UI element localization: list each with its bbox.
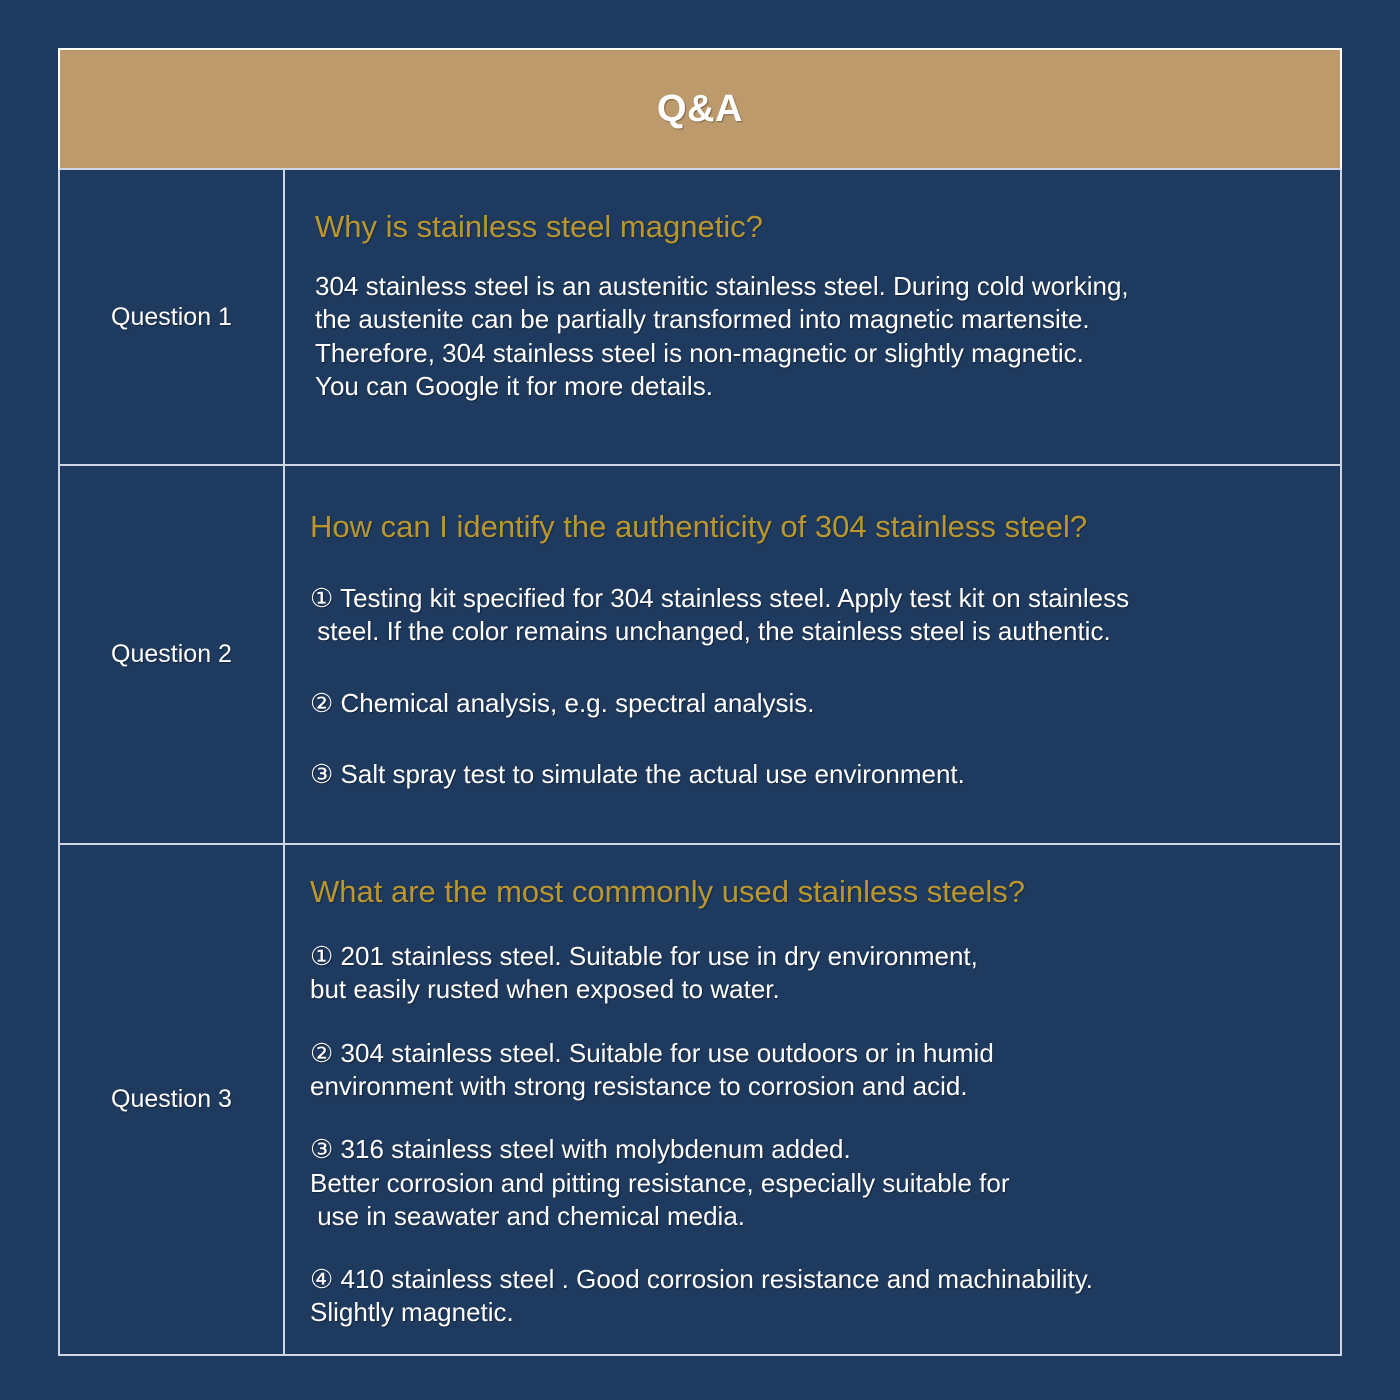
question-content-cell-1: Why is stainless steel magnetic? 304 sta… bbox=[285, 170, 1340, 464]
answer-line: Slightly magnetic. bbox=[310, 1296, 1320, 1329]
question-heading-1: Why is stainless steel magnetic? bbox=[315, 208, 1320, 245]
answer-line: steel. If the color remains unchanged, t… bbox=[310, 615, 1320, 648]
question-label-3: Question 3 bbox=[111, 1085, 232, 1114]
answer-line: Therefore, 304 stainless steel is non-ma… bbox=[315, 337, 1320, 370]
table-row: Question 2 How can I identify the authen… bbox=[60, 466, 1340, 845]
answer-line: Better corrosion and pitting resistance,… bbox=[310, 1167, 1320, 1200]
table-row: Question 3 What are the most commonly us… bbox=[60, 845, 1340, 1354]
answer-item: ② 304 stainless steel. Suitable for use … bbox=[310, 1037, 1320, 1104]
question-heading-2: How can I identify the authenticity of 3… bbox=[310, 508, 1320, 545]
answer-line: ③ Salt spray test to simulate the actual… bbox=[310, 758, 1320, 791]
question-label-cell-1: Question 1 bbox=[60, 170, 285, 464]
answer-line: ② Chemical analysis, e.g. spectral analy… bbox=[310, 687, 1320, 720]
question-label-2: Question 2 bbox=[111, 640, 232, 669]
answer-line: environment with strong resistance to co… bbox=[310, 1070, 1320, 1103]
table-row: Question 1 Why is stainless steel magnet… bbox=[60, 170, 1340, 466]
page-title: Q&A bbox=[657, 88, 743, 131]
answer-line: ② 304 stainless steel. Suitable for use … bbox=[310, 1037, 1320, 1070]
answer-item: ③ 316 stainless steel with molybdenum ad… bbox=[310, 1133, 1320, 1233]
qa-table-body: Question 1 Why is stainless steel magnet… bbox=[58, 170, 1342, 1356]
question-label-cell-2: Question 2 bbox=[60, 466, 285, 843]
answer-line: but easily rusted when exposed to water. bbox=[310, 973, 1320, 1006]
question-heading-3: What are the most commonly used stainles… bbox=[310, 873, 1320, 910]
answer-line: ① 201 stainless steel. Suitable for use … bbox=[310, 940, 1320, 973]
answer-line: use in seawater and chemical media. bbox=[310, 1200, 1320, 1233]
question-label-cell-3: Question 3 bbox=[60, 845, 285, 1354]
answer-item: ① 201 stainless steel. Suitable for use … bbox=[310, 940, 1320, 1007]
answer-line: ③ 316 stainless steel with molybdenum ad… bbox=[310, 1133, 1320, 1166]
question-content-cell-2: How can I identify the authenticity of 3… bbox=[285, 466, 1340, 843]
qa-header-band: Q&A bbox=[58, 48, 1342, 170]
question-content-cell-3: What are the most commonly used stainles… bbox=[285, 845, 1340, 1354]
answer-line: You can Google it for more details. bbox=[315, 370, 1320, 403]
question-label-1: Question 1 bbox=[111, 303, 232, 332]
answer-line: the austenite can be partially transform… bbox=[315, 303, 1320, 336]
qa-table: Q&A Question 1 Why is stainless steel ma… bbox=[58, 48, 1342, 1356]
answer-block-1: 304 stainless steel is an austenitic sta… bbox=[315, 270, 1320, 403]
answer-item: ② Chemical analysis, e.g. spectral analy… bbox=[310, 687, 1320, 720]
answer-line: ① Testing kit specified for 304 stainles… bbox=[310, 582, 1320, 615]
answer-item: ③ Salt spray test to simulate the actual… bbox=[310, 758, 1320, 791]
answer-item: ① Testing kit specified for 304 stainles… bbox=[310, 582, 1320, 649]
answer-item: ④ 410 stainless steel . Good corrosion r… bbox=[310, 1263, 1320, 1330]
answer-line: 304 stainless steel is an austenitic sta… bbox=[315, 270, 1320, 303]
answer-line: ④ 410 stainless steel . Good corrosion r… bbox=[310, 1263, 1320, 1296]
